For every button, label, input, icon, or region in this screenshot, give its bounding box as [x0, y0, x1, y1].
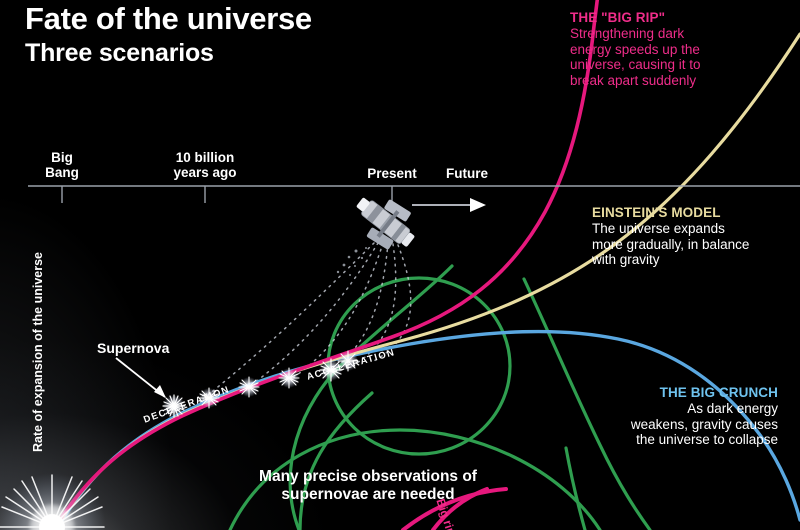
supernova-pointer-layer: [0, 0, 800, 530]
supernova-arrow-icon: [116, 358, 166, 398]
supernovae-note: Many precise observations of supernovae …: [243, 468, 493, 505]
infographic-canvas: Fate of the universe Three scenarios Rat…: [0, 0, 800, 530]
